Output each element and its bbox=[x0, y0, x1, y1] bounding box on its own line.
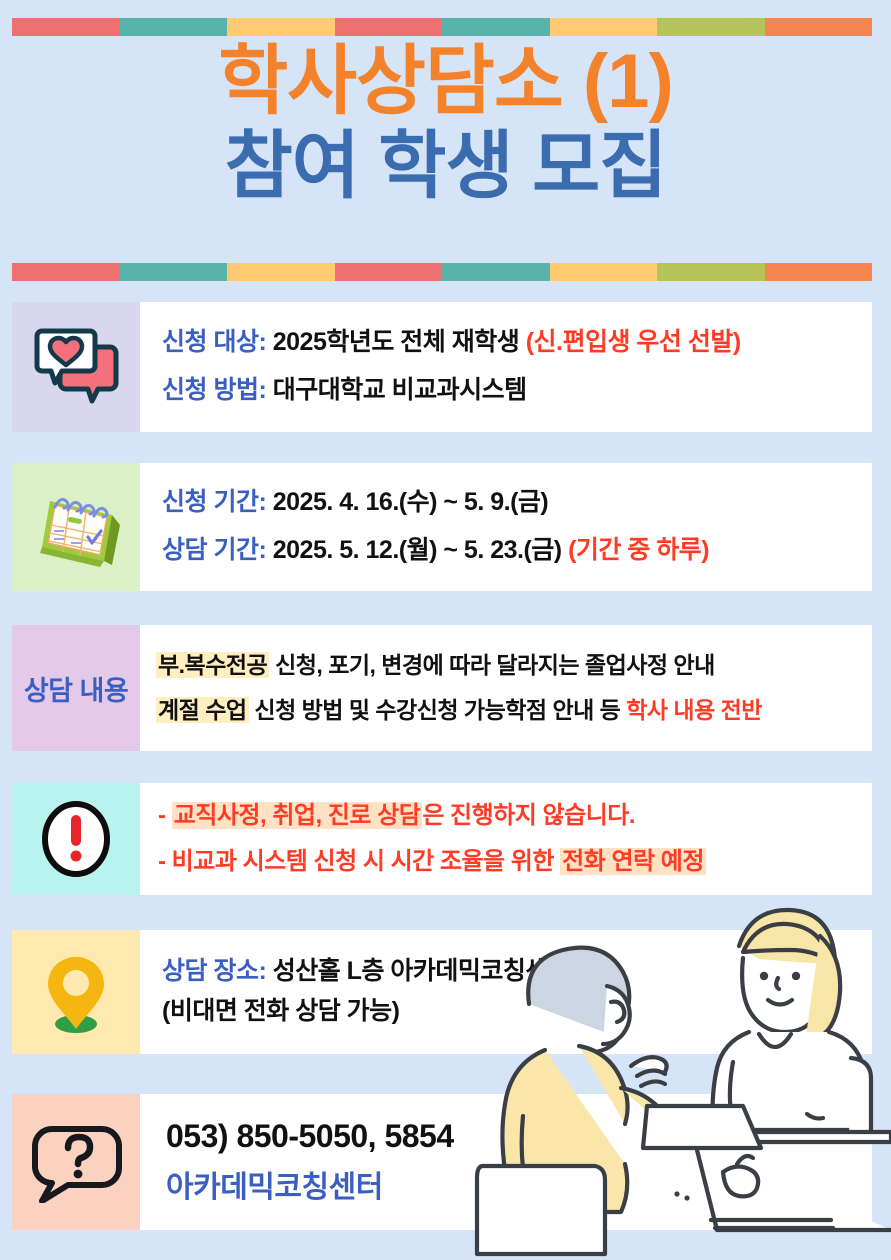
text-line: 아카데믹코칭센터 bbox=[166, 1168, 860, 1209]
text-line: 상담 장소: 성산홀 L층 아카데믹코칭센터 bbox=[162, 955, 860, 989]
text-line: 신청 기간: 2025. 4. 16.(수) ~ 5. 9.(금) bbox=[162, 486, 860, 520]
consult-content-label: 상담 내용 bbox=[12, 625, 140, 751]
stripe-segment-3 bbox=[227, 18, 335, 36]
icon-cell bbox=[12, 463, 140, 591]
center-name: 아카데믹코칭센터 bbox=[166, 1171, 383, 1204]
text-line: - 비교과 시스템 신청 시 시간 조율을 위한 전화 연락 예정 bbox=[158, 846, 860, 878]
info-row-notice: - 교직사정, 취업, 진로 상담은 진행하지 않습니다. - 비교과 시스템 … bbox=[12, 783, 872, 895]
map-pin-icon bbox=[39, 947, 113, 1037]
line-label: 신청 기간: bbox=[162, 488, 266, 516]
line-label: 상담 장소: bbox=[162, 957, 266, 985]
stripe-segment-6 bbox=[550, 263, 658, 281]
line-highlight: 교직사정, 취업, 진로 상담 bbox=[172, 802, 423, 829]
text-line: 부.복수전공 신청, 포기, 변경에 따라 달라지는 졸업사정 안내 bbox=[156, 650, 860, 681]
info-row-location: 상담 장소: 성산홀 L층 아카데믹코칭센터 (비대면 전화 상담 가능) bbox=[12, 930, 872, 1054]
phone-number: 053) 850-5050, 5854 bbox=[166, 1118, 454, 1154]
icon-cell bbox=[12, 930, 140, 1054]
icon-cell bbox=[12, 302, 140, 432]
line-value: 은 진행하지 않습니다. bbox=[422, 802, 635, 829]
stripe-segment-4 bbox=[335, 263, 443, 281]
text-line: 신청 방법: 대구대학교 비교과시스템 bbox=[162, 374, 860, 408]
line-value: 비교과 시스템 신청 시 시간 조율을 위한 bbox=[172, 848, 560, 875]
line-accent: (기간 중 하루) bbox=[568, 536, 709, 564]
icon-cell bbox=[12, 1094, 140, 1230]
poster-title: 학사상담소 (1) 참여 학생 모집 bbox=[0, 42, 891, 205]
line-label: 상담 기간: bbox=[162, 536, 266, 564]
title-line-2: 참여 학생 모집 bbox=[0, 127, 891, 205]
icon-cell bbox=[12, 783, 140, 895]
decorative-stripe-top bbox=[12, 18, 872, 36]
row-text-body: 부.복수전공 신청, 포기, 변경에 따라 달라지는 졸업사정 안내 계절 수업… bbox=[140, 625, 872, 751]
stripe-segment-1 bbox=[12, 18, 120, 36]
line-label: 신청 대상: bbox=[162, 328, 266, 356]
exclamation-circle-icon bbox=[37, 798, 115, 880]
question-speech-bubble-icon bbox=[30, 1121, 122, 1203]
line-value: (비대면 전화 상담 가능) bbox=[162, 997, 400, 1025]
info-row-period: 신청 기간: 2025. 4. 16.(수) ~ 5. 9.(금) 상담 기간:… bbox=[12, 463, 872, 591]
heart-speech-bubble-icon bbox=[30, 325, 122, 409]
line-dash: - bbox=[158, 802, 172, 829]
stripe-segment-3 bbox=[227, 263, 335, 281]
line-highlight: 계절 수업 bbox=[156, 697, 249, 723]
line-value: 2025. 4. 16.(수) ~ 5. 9.(금) bbox=[266, 488, 548, 516]
row-text-body: 신청 기간: 2025. 4. 16.(수) ~ 5. 9.(금) 상담 기간:… bbox=[140, 463, 872, 591]
title-line-1: 학사상담소 (1) bbox=[0, 42, 891, 123]
text-line: 신청 대상: 2025학년도 전체 재학생 (신.편입생 우선 선발) bbox=[162, 326, 860, 360]
stripe-segment-1 bbox=[12, 263, 120, 281]
info-row-application: 신청 대상: 2025학년도 전체 재학생 (신.편입생 우선 선발) 신청 방… bbox=[12, 302, 872, 432]
stripe-segment-8 bbox=[765, 263, 873, 281]
info-row-contact: 053) 850-5050, 5854 아카데믹코칭센터 bbox=[12, 1094, 872, 1230]
line-value: 신청, 포기, 변경에 따라 달라지는 졸업사정 안내 bbox=[269, 652, 715, 678]
line-dash: - bbox=[158, 848, 172, 875]
line-accent: 학사 내용 전반 bbox=[626, 697, 762, 723]
text-line: 계절 수업 신청 방법 및 수강신청 가능학점 안내 등 학사 내용 전반 bbox=[156, 695, 860, 726]
poster-root: 학사상담소 (1) 참여 학생 모집 신청 대상: 2025학년도 전체 재학생… bbox=[0, 0, 891, 1260]
row-text-body: - 교직사정, 취업, 진로 상담은 진행하지 않습니다. - 비교과 시스템 … bbox=[140, 783, 872, 895]
line-accent: (신.편입생 우선 선발) bbox=[526, 328, 741, 356]
stripe-segment-2 bbox=[120, 18, 228, 36]
text-line: (비대면 전화 상담 가능) bbox=[162, 995, 860, 1029]
stripe-segment-6 bbox=[550, 18, 658, 36]
line-accent: 전화 연락 예정 bbox=[560, 848, 706, 875]
row-text-body: 053) 850-5050, 5854 아카데믹코칭센터 bbox=[140, 1094, 872, 1230]
line-value: 2025. 5. 12.(월) ~ 5. 23.(금) bbox=[266, 536, 568, 564]
stripe-segment-5 bbox=[442, 263, 550, 281]
stripe-segment-8 bbox=[765, 18, 873, 36]
stripe-segment-4 bbox=[335, 18, 443, 36]
line-value: 대구대학교 비교과시스템 bbox=[266, 376, 526, 404]
line-value: 성산홀 L층 아카데믹코칭센터 bbox=[266, 957, 570, 985]
line-value: 신청 방법 및 수강신청 가능학점 안내 등 bbox=[249, 697, 627, 723]
row-text-body: 상담 장소: 성산홀 L층 아카데믹코칭센터 (비대면 전화 상담 가능) bbox=[140, 930, 872, 1054]
info-row-consult-content: 상담 내용 부.복수전공 신청, 포기, 변경에 따라 달라지는 졸업사정 안내… bbox=[12, 625, 872, 751]
text-line: - 교직사정, 취업, 진로 상담은 진행하지 않습니다. bbox=[158, 800, 860, 832]
stripe-segment-7 bbox=[657, 18, 765, 36]
line-label: 신청 방법: bbox=[162, 376, 266, 404]
line-value: 2025학년도 전체 재학생 bbox=[266, 328, 525, 356]
stripe-segment-7 bbox=[657, 263, 765, 281]
text-line: 상담 기간: 2025. 5. 12.(월) ~ 5. 23.(금) (기간 중… bbox=[162, 534, 860, 568]
stripe-segment-2 bbox=[120, 263, 228, 281]
desk-calendar-icon bbox=[26, 481, 126, 573]
line-highlight: 부.복수전공 bbox=[156, 652, 269, 678]
text-line: 053) 850-5050, 5854 bbox=[166, 1115, 860, 1158]
row-text-body: 신청 대상: 2025학년도 전체 재학생 (신.편입생 우선 선발) 신청 방… bbox=[140, 302, 872, 432]
decorative-stripe-bottom bbox=[12, 263, 872, 281]
stripe-segment-5 bbox=[442, 18, 550, 36]
